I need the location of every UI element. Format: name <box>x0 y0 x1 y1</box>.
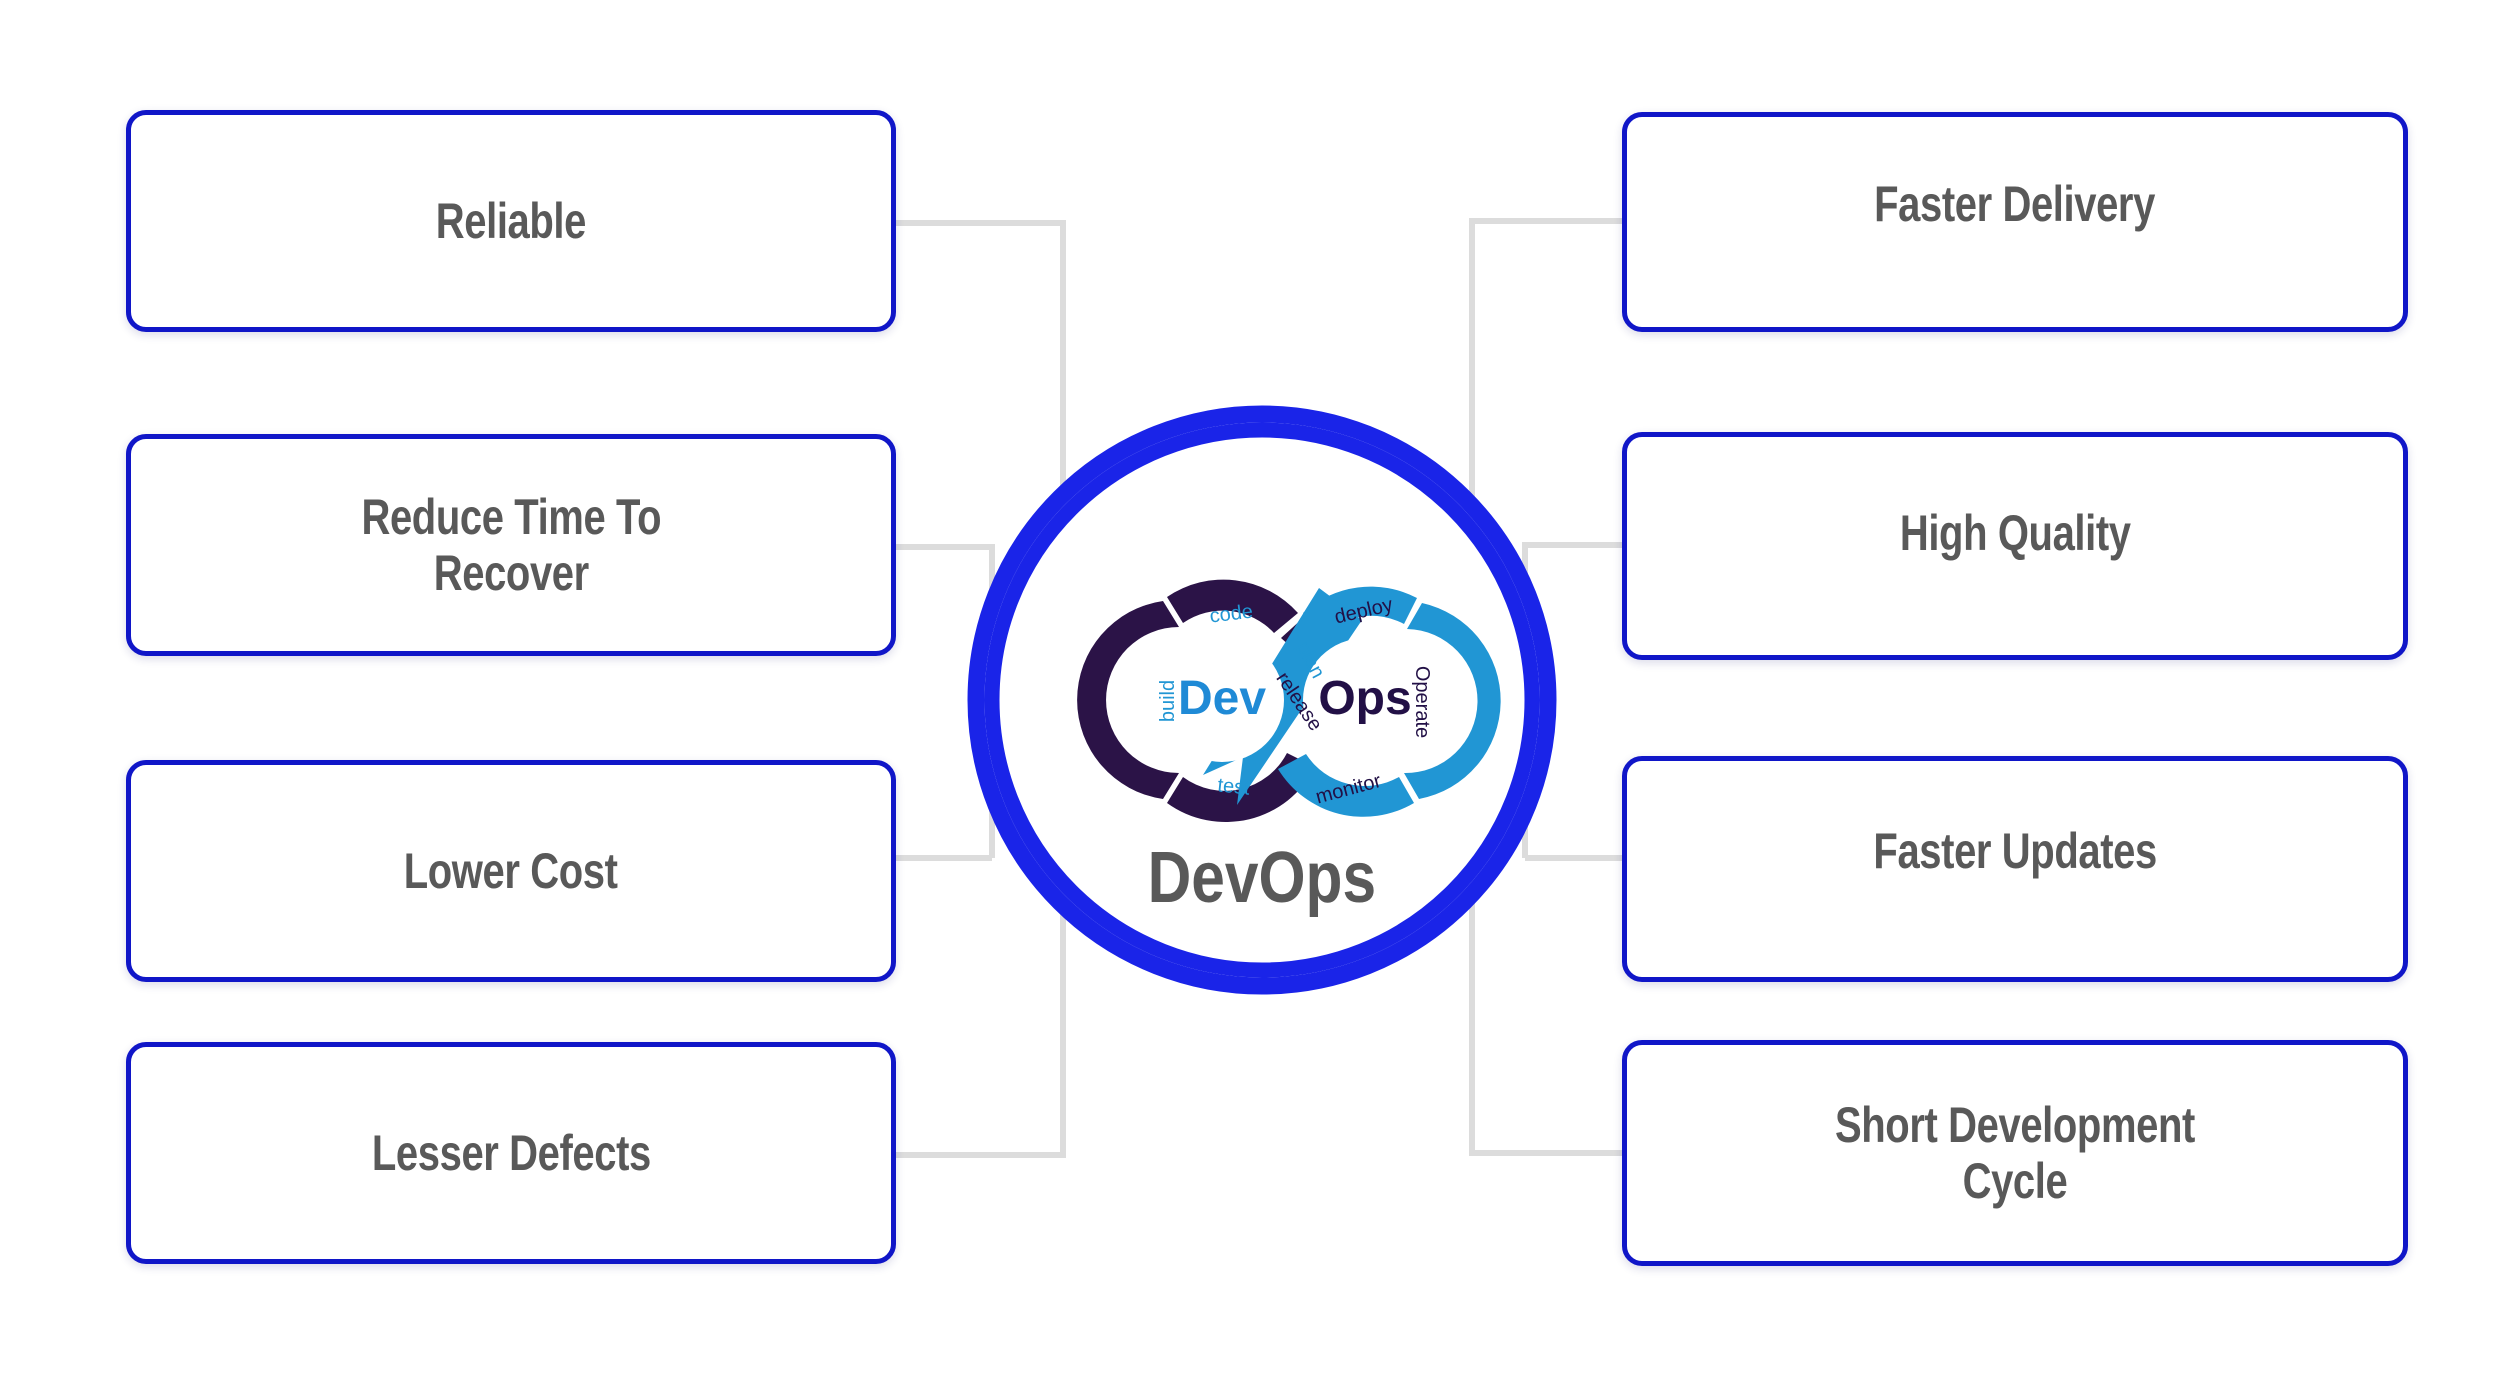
benefit-label: Faster Delivery <box>1875 176 2156 232</box>
benefit-label: Short Development Cycle <box>1835 1097 2195 1209</box>
benefit-box-faster-delivery[interactable]: Faster Delivery <box>1622 112 2408 332</box>
emblem-caption: DevOps <box>1148 838 1377 918</box>
benefit-box-reduce-time-to-recover[interactable]: Reduce Time To Recover <box>126 434 896 656</box>
devops-benefits-diagram: Reliable Reduce Time To Recover Lower Co… <box>0 0 2517 1379</box>
benefit-label: Faster Updates <box>1873 823 2156 879</box>
benefit-label: Reliable <box>436 193 586 249</box>
ops-stage-label-operate: Operate <box>1411 666 1433 738</box>
emblem-dev-label: Dev <box>1178 672 1266 725</box>
benefit-label: Lower Cost <box>404 843 618 899</box>
dev-stage-label-build: build <box>1157 680 1179 722</box>
benefit-box-lower-cost[interactable]: Lower Cost <box>126 760 896 982</box>
benefit-box-lesser-defects[interactable]: Lesser Defects <box>126 1042 896 1264</box>
benefit-label: High Quality <box>1900 505 2131 561</box>
benefit-label: Reduce Time To Recover <box>361 489 661 601</box>
benefit-box-short-development-cycle[interactable]: Short Development Cycle <box>1622 1040 2408 1266</box>
benefit-box-reliable[interactable]: Reliable <box>126 110 896 332</box>
dev-stage-label-test: test <box>1216 774 1251 799</box>
emblem-ops-label: Ops <box>1318 672 1411 725</box>
benefit-box-high-quality[interactable]: High Quality <box>1622 432 2408 660</box>
devops-emblem: code plan build test release deploy Oper… <box>967 405 1557 995</box>
benefit-label: Lesser Defects <box>371 1125 650 1181</box>
benefit-box-faster-updates[interactable]: Faster Updates <box>1622 756 2408 982</box>
